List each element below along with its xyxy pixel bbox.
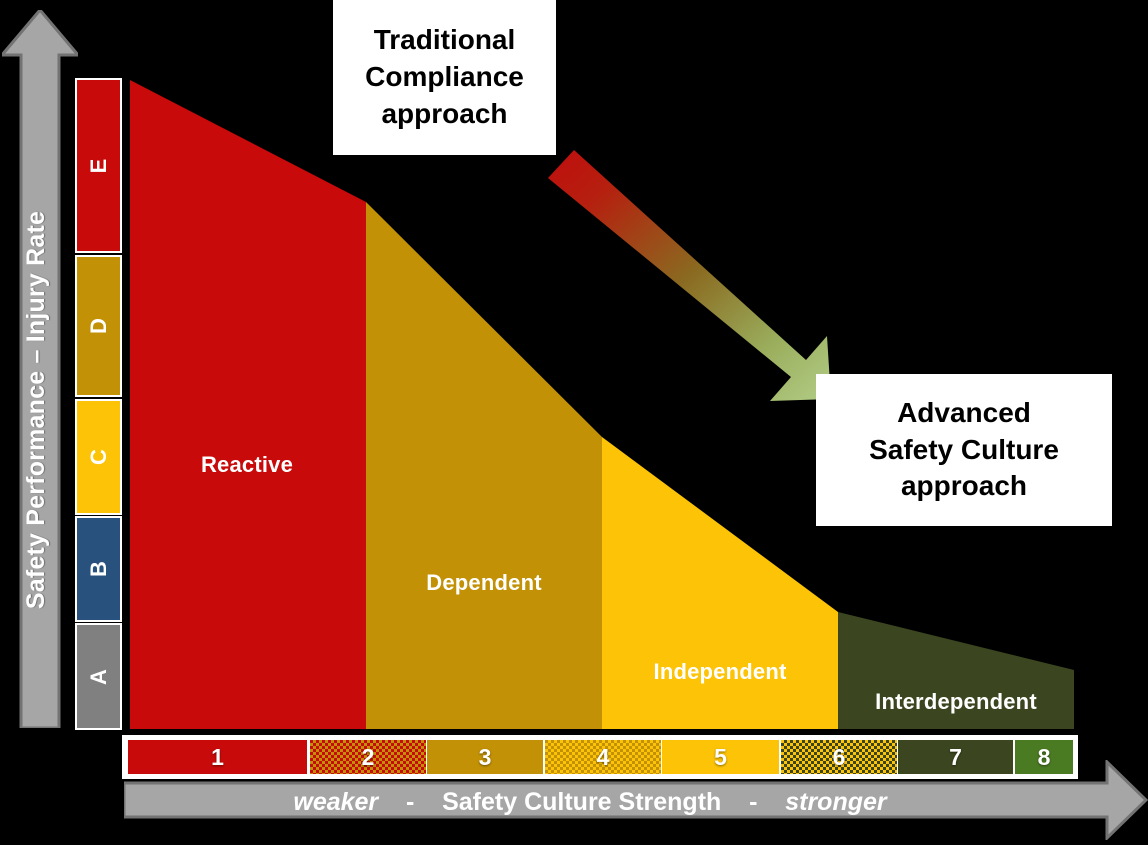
callout-traditional-line1: Traditional bbox=[333, 22, 556, 59]
transition-arrow bbox=[548, 150, 831, 401]
rating-cell-a: A bbox=[75, 623, 122, 730]
band-label-dependent: Dependent bbox=[426, 570, 541, 596]
x-axis-dash-left: - bbox=[406, 788, 414, 816]
callout-traditional-line3: approach bbox=[333, 96, 556, 133]
x-axis-label-weaker: weaker bbox=[293, 788, 378, 816]
rating-label-b: B bbox=[86, 561, 112, 577]
callout-advanced-line1: Advanced bbox=[816, 395, 1112, 432]
y-axis-label: Safety Performance – Injury Rate bbox=[14, 100, 58, 720]
callout-advanced-safety-culture: Advanced Safety Culture approach bbox=[816, 374, 1112, 526]
rating-cell-c: C bbox=[75, 399, 122, 515]
band-independent bbox=[602, 437, 838, 729]
band-dependent bbox=[366, 202, 602, 729]
rating-label-d: D bbox=[86, 318, 112, 334]
x-axis-label: weaker - Safety Culture Strength - stron… bbox=[150, 787, 1030, 817]
rating-label-c: C bbox=[86, 449, 112, 465]
band-reactive bbox=[130, 80, 366, 729]
band-label-reactive: Reactive bbox=[201, 452, 293, 478]
rating-cell-b: B bbox=[75, 516, 122, 622]
rating-column: E D C B A bbox=[73, 78, 124, 730]
rating-label-a: A bbox=[86, 669, 112, 685]
callout-traditional-line2: Compliance bbox=[333, 59, 556, 96]
rating-label-e: E bbox=[86, 158, 112, 173]
x-axis-dash-right: - bbox=[749, 788, 757, 816]
rating-cell-e: E bbox=[75, 78, 122, 253]
callout-advanced-line2: Safety Culture bbox=[816, 432, 1112, 469]
x-axis-label-stronger: stronger bbox=[785, 788, 886, 816]
callout-traditional-compliance: Traditional Compliance approach bbox=[333, 0, 556, 155]
rating-cell-d: D bbox=[75, 255, 122, 397]
callout-advanced-line3: approach bbox=[816, 468, 1112, 505]
infographic-canvas: Safety Performance – Injury Rate E D C B… bbox=[0, 0, 1148, 842]
x-axis-label-center: Safety Culture Strength bbox=[442, 788, 721, 816]
band-label-independent: Independent bbox=[654, 659, 787, 685]
band-label-interdependent: Interdependent bbox=[875, 689, 1037, 715]
